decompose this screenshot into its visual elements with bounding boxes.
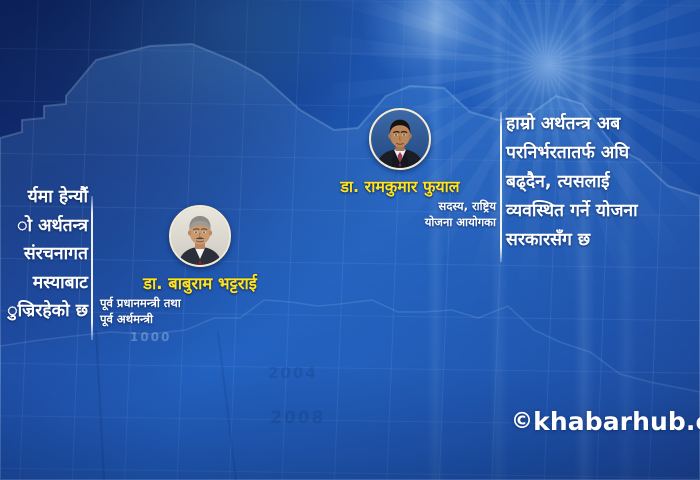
quote-right-block: हाम्रो अर्थतन्त्र अब परनिर्भरतातर्फ अघि …: [506, 110, 700, 255]
avatar: [369, 108, 431, 170]
quote-left-text: र्यमा हेन्यौं ो अर्थतन्त्र संरचनागत मस्य…: [0, 183, 88, 326]
person-card-baburam-bhattarai: डा. बाबुराम भट्टराई पूर्व प्रधानमन्त्री …: [100, 205, 300, 327]
divider-right: [500, 112, 502, 262]
portrait-ramkumar-phuyal-icon: [371, 110, 429, 168]
divider-left: [91, 196, 93, 340]
watermark-text: khabarhub.co: [533, 407, 700, 436]
portrait-baburam-bhattarai-icon: [171, 207, 229, 265]
watermark-khabarhub: ©khabarhub.co: [511, 407, 700, 436]
person-name: डा. रामकुमार फुयाल: [300, 177, 500, 197]
person-card-ramkumar-phuyal: डा. रामकुमार फुयाल सदस्य, राष्ट्रिय योजन…: [300, 108, 500, 230]
news-quote-graphic: 1000 2004 2008 र्यमा हेन्यौं ो अर्थतन्त्…: [0, 0, 700, 480]
person-title: पूर्व प्रधानमन्त्री तथा पूर्व अर्थमन्त्र…: [100, 296, 300, 327]
person-name: डा. बाबुराम भट्टराई: [100, 274, 300, 294]
avatar: [169, 205, 231, 267]
quote-right-text: हाम्रो अर्थतन्त्र अब परनिर्भरतातर्फ अघि …: [506, 110, 700, 255]
copyright-icon: ©: [511, 409, 533, 434]
person-title: सदस्य, राष्ट्रिय योजना आयोगका: [300, 199, 500, 230]
quote-left-block: र्यमा हेन्यौं ो अर्थतन्त्र संरचनागत मस्य…: [0, 183, 88, 326]
